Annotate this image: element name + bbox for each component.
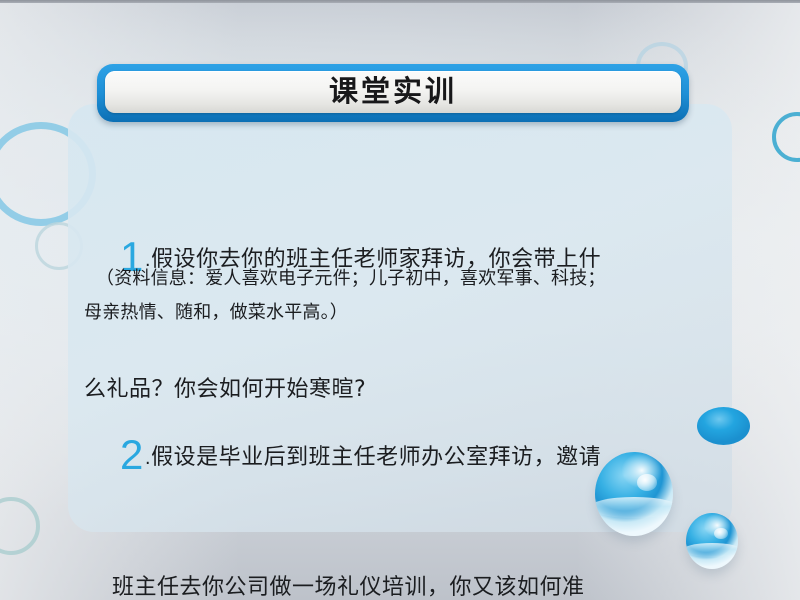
water-drop-highlight [714,528,728,539]
reference-note: （资料信息：爱人喜欢电子元件；儿子初中，喜欢军事、科技； 母亲热情、随和，做菜水… [84,262,724,330]
question-2-number: 2 [120,431,144,478]
title-plaque-inner: 课堂实训 [105,71,681,113]
question-2-text-line-1: 假设是毕业后到班主任老师办公室拜访，邀请 [151,445,601,470]
water-drop-highlight [637,474,657,491]
slide-canvas: 课堂实训 1.假设你去你的班主任老师家拜访，你会带上什 么礼品？你会如何开始寒暄… [0,0,800,600]
decorative-water-drop-large [595,452,673,536]
decorative-blob-oval [697,407,750,445]
decorative-water-drop-small [686,513,738,569]
decorative-ring-right-middle [772,112,800,162]
decorative-ring-left-bottom [0,497,40,555]
question-2-text-line-2: 班主任去你公司做一场礼仪培训，你又该如何准 [84,566,718,600]
top-edge-rule [0,0,800,3]
title-plaque-frame: 课堂实训 [97,64,689,122]
reference-note-line-1: （资料信息：爱人喜欢电子元件；儿子初中，喜欢军事、科技； [84,262,724,296]
reference-note-line-2: 母亲热情、随和，做菜水平高。） [84,296,724,330]
page-title: 课堂实训 [329,77,457,106]
